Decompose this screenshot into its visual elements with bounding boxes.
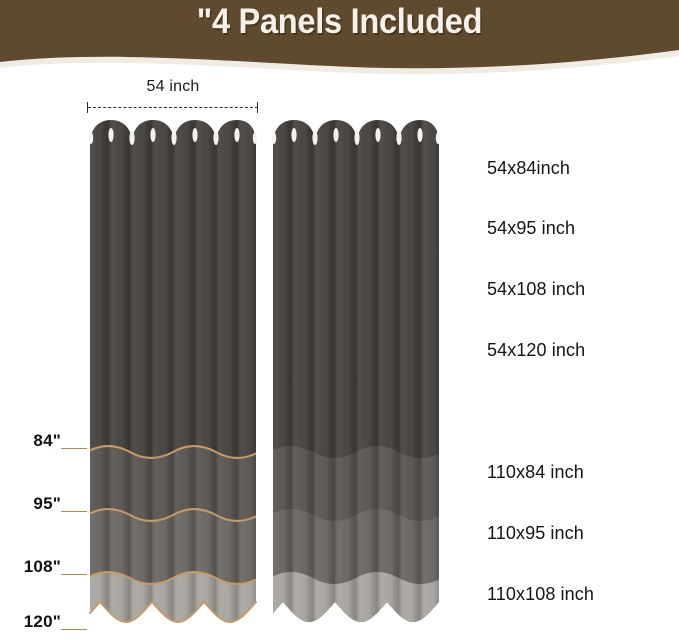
infographic-canvas: "4 Panels Included 54 inch [0, 0, 679, 643]
height-tick-label: 84" [33, 431, 61, 451]
height-tick-label: 108" [24, 557, 61, 577]
leader-line-icon [61, 629, 87, 630]
size-option-54x95[interactable]: 54x95 inch [487, 218, 575, 239]
size-option-54x84[interactable]: 54x84inch [487, 158, 570, 179]
page-title: "4 Panels Included [24, 2, 655, 42]
height-tick-label: 95" [33, 494, 61, 514]
leader-line-icon [61, 448, 87, 449]
width-dimension-label: 54 inch [87, 78, 259, 96]
leader-line-icon [61, 574, 87, 575]
dimension-line-icon [87, 102, 259, 114]
right-curtain-panel [270, 114, 442, 634]
height-tick-84: 84" [0, 430, 87, 452]
size-option-54x108[interactable]: 54x108 inch [487, 279, 585, 300]
size-option-110x108[interactable]: 110x108 inch [487, 584, 594, 605]
left-curtain-panel [87, 114, 259, 634]
width-dimension: 54 inch [87, 78, 259, 112]
size-option-110x95[interactable]: 110x95 inch [487, 523, 584, 544]
height-tick-120: 120" [0, 611, 87, 633]
height-tick-label: 120" [24, 612, 61, 632]
size-option-110x84[interactable]: 110x84 inch [487, 462, 584, 483]
leader-line-icon [61, 511, 87, 512]
height-tick-95: 95" [0, 493, 87, 515]
height-tick-108: 108" [0, 556, 87, 578]
size-option-54x120[interactable]: 54x120 inch [487, 340, 585, 361]
